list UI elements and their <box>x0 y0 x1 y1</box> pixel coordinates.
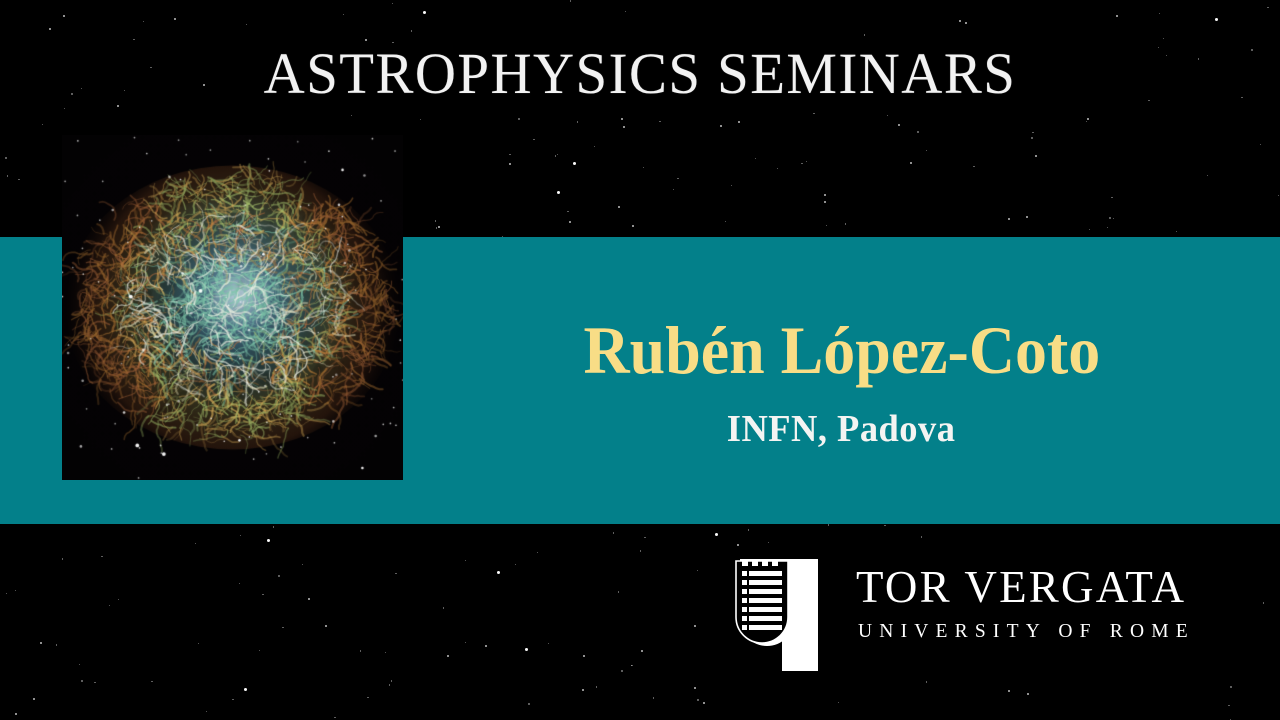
star <box>641 650 643 652</box>
star <box>738 121 740 123</box>
star <box>1228 705 1229 706</box>
star <box>555 155 556 156</box>
star <box>644 537 645 538</box>
star <box>509 154 510 155</box>
star <box>570 0 571 1</box>
star <box>653 697 654 698</box>
star <box>143 21 144 22</box>
university-logo: TOR VERGATA UNIVERSITY OF ROME <box>722 553 1252 671</box>
star <box>1111 197 1112 198</box>
star <box>411 30 412 31</box>
star <box>697 699 698 700</box>
star <box>898 124 900 126</box>
star <box>755 158 756 159</box>
star <box>528 703 529 704</box>
star <box>42 124 43 125</box>
star <box>94 682 95 683</box>
star <box>438 226 440 228</box>
star <box>621 670 622 671</box>
star <box>828 524 829 525</box>
star <box>525 648 528 651</box>
star <box>325 625 327 627</box>
star <box>715 533 718 536</box>
star <box>133 39 134 40</box>
star <box>845 223 846 224</box>
star <box>926 150 927 151</box>
star <box>813 113 814 114</box>
logo-wordmark: TOR VERGATA UNIVERSITY OF ROME <box>856 553 1195 642</box>
star <box>1087 118 1089 120</box>
star <box>838 702 839 703</box>
star <box>618 206 620 208</box>
star <box>720 125 722 127</box>
star <box>118 599 119 600</box>
star <box>621 118 623 120</box>
star <box>973 166 974 167</box>
star <box>824 201 826 203</box>
star <box>18 179 19 180</box>
star <box>884 525 885 526</box>
star <box>64 108 65 109</box>
star <box>117 105 119 107</box>
star <box>768 542 769 543</box>
star <box>198 643 199 644</box>
star <box>518 118 519 119</box>
star <box>151 681 152 682</box>
star <box>497 571 500 574</box>
star <box>392 3 393 4</box>
star <box>15 590 16 591</box>
star <box>577 121 578 122</box>
star <box>56 644 57 645</box>
star <box>1207 175 1208 176</box>
star <box>777 168 778 169</box>
crab-nebula-canvas <box>62 135 403 480</box>
star <box>267 539 270 542</box>
star <box>1107 227 1108 228</box>
star <box>917 131 918 132</box>
star <box>1026 216 1028 218</box>
star <box>436 227 437 228</box>
star <box>631 665 632 666</box>
star <box>509 163 511 165</box>
star <box>515 564 516 565</box>
star <box>1116 15 1118 17</box>
star <box>569 221 571 223</box>
star <box>826 225 827 226</box>
star <box>594 146 595 147</box>
star <box>334 717 335 718</box>
star <box>5 157 6 158</box>
star <box>385 652 386 653</box>
star <box>282 627 283 628</box>
star <box>435 220 436 221</box>
star <box>557 191 560 194</box>
star <box>887 115 888 116</box>
star <box>613 532 614 533</box>
star <box>748 529 749 530</box>
star <box>864 34 865 35</box>
crab-nebula-image <box>62 135 403 480</box>
star <box>278 575 279 576</box>
star <box>1263 602 1264 603</box>
star <box>731 185 732 186</box>
star <box>81 680 82 681</box>
star <box>801 163 802 164</box>
star <box>694 625 696 627</box>
speaker-affiliation: INFN, Padova <box>727 410 956 448</box>
star <box>1260 144 1261 145</box>
star <box>465 560 466 561</box>
star <box>485 645 487 647</box>
speaker-name: Rubén López-Coto <box>583 316 1100 384</box>
seminar-title-slide: ASTROPHYSICS SEMINARS Rubén López-Coto I… <box>0 0 1280 720</box>
star <box>1008 218 1010 220</box>
star <box>640 550 641 551</box>
star <box>1113 218 1114 219</box>
star <box>246 24 247 25</box>
star <box>1086 121 1087 122</box>
star <box>1278 195 1279 196</box>
logo-name: TOR VERGATA <box>856 565 1195 610</box>
star <box>62 558 63 559</box>
star <box>447 655 449 657</box>
star <box>582 689 584 691</box>
star <box>302 564 303 565</box>
star <box>1267 7 1268 8</box>
star <box>1089 229 1090 230</box>
star <box>240 535 241 536</box>
star <box>343 14 344 15</box>
star <box>360 650 361 651</box>
star <box>557 154 558 155</box>
star <box>351 115 352 116</box>
logo-subtitle: UNIVERSITY OF ROME <box>858 622 1195 642</box>
star <box>232 699 233 700</box>
star <box>703 702 705 704</box>
star <box>395 573 396 574</box>
star <box>596 686 597 687</box>
star <box>737 544 739 546</box>
star <box>697 570 698 571</box>
star <box>7 175 8 176</box>
star <box>423 11 426 14</box>
star <box>101 556 102 557</box>
star <box>1163 38 1164 39</box>
star <box>921 536 922 537</box>
star <box>259 650 260 651</box>
star <box>1032 132 1033 133</box>
star <box>573 162 576 165</box>
star <box>548 643 549 644</box>
star <box>1027 693 1029 695</box>
star <box>677 178 678 179</box>
star <box>567 211 568 212</box>
star <box>206 711 207 712</box>
star <box>625 11 626 12</box>
star <box>537 552 538 553</box>
star <box>926 681 927 682</box>
star <box>63 15 65 17</box>
star <box>465 642 466 643</box>
star <box>109 605 110 606</box>
star <box>1215 18 1218 21</box>
star <box>673 189 674 190</box>
star <box>1031 137 1032 138</box>
page-title: ASTROPHYSICS SEMINARS <box>13 44 1267 105</box>
star <box>583 655 585 657</box>
star <box>623 126 625 128</box>
star <box>15 713 17 715</box>
star <box>195 543 196 544</box>
star <box>631 665 632 666</box>
star <box>618 591 619 592</box>
star <box>694 687 696 689</box>
star <box>959 20 961 22</box>
star <box>1230 686 1231 687</box>
star <box>1035 155 1037 157</box>
star <box>273 526 274 527</box>
star <box>389 684 390 685</box>
star <box>420 119 421 120</box>
star <box>965 22 967 24</box>
tor-vergata-shield-icon <box>722 553 834 671</box>
star <box>308 598 310 600</box>
star <box>239 583 240 584</box>
star <box>806 161 807 162</box>
star <box>1176 231 1177 232</box>
star <box>262 594 263 595</box>
star <box>79 664 80 665</box>
star <box>6 593 7 594</box>
star <box>1008 690 1010 692</box>
star <box>533 139 534 140</box>
star <box>910 162 912 164</box>
star <box>40 642 42 644</box>
star <box>1109 217 1110 218</box>
star <box>632 225 634 227</box>
star <box>1159 13 1160 14</box>
star <box>244 688 247 691</box>
star <box>659 121 660 122</box>
star <box>725 221 726 222</box>
star <box>49 28 51 30</box>
star <box>824 194 826 196</box>
star <box>443 607 444 608</box>
star <box>174 18 176 20</box>
star <box>33 698 35 700</box>
star <box>391 680 392 681</box>
speaker-block: Rubén López-Coto INFN, Padova <box>403 237 1280 524</box>
star <box>367 697 368 698</box>
star <box>643 167 644 168</box>
